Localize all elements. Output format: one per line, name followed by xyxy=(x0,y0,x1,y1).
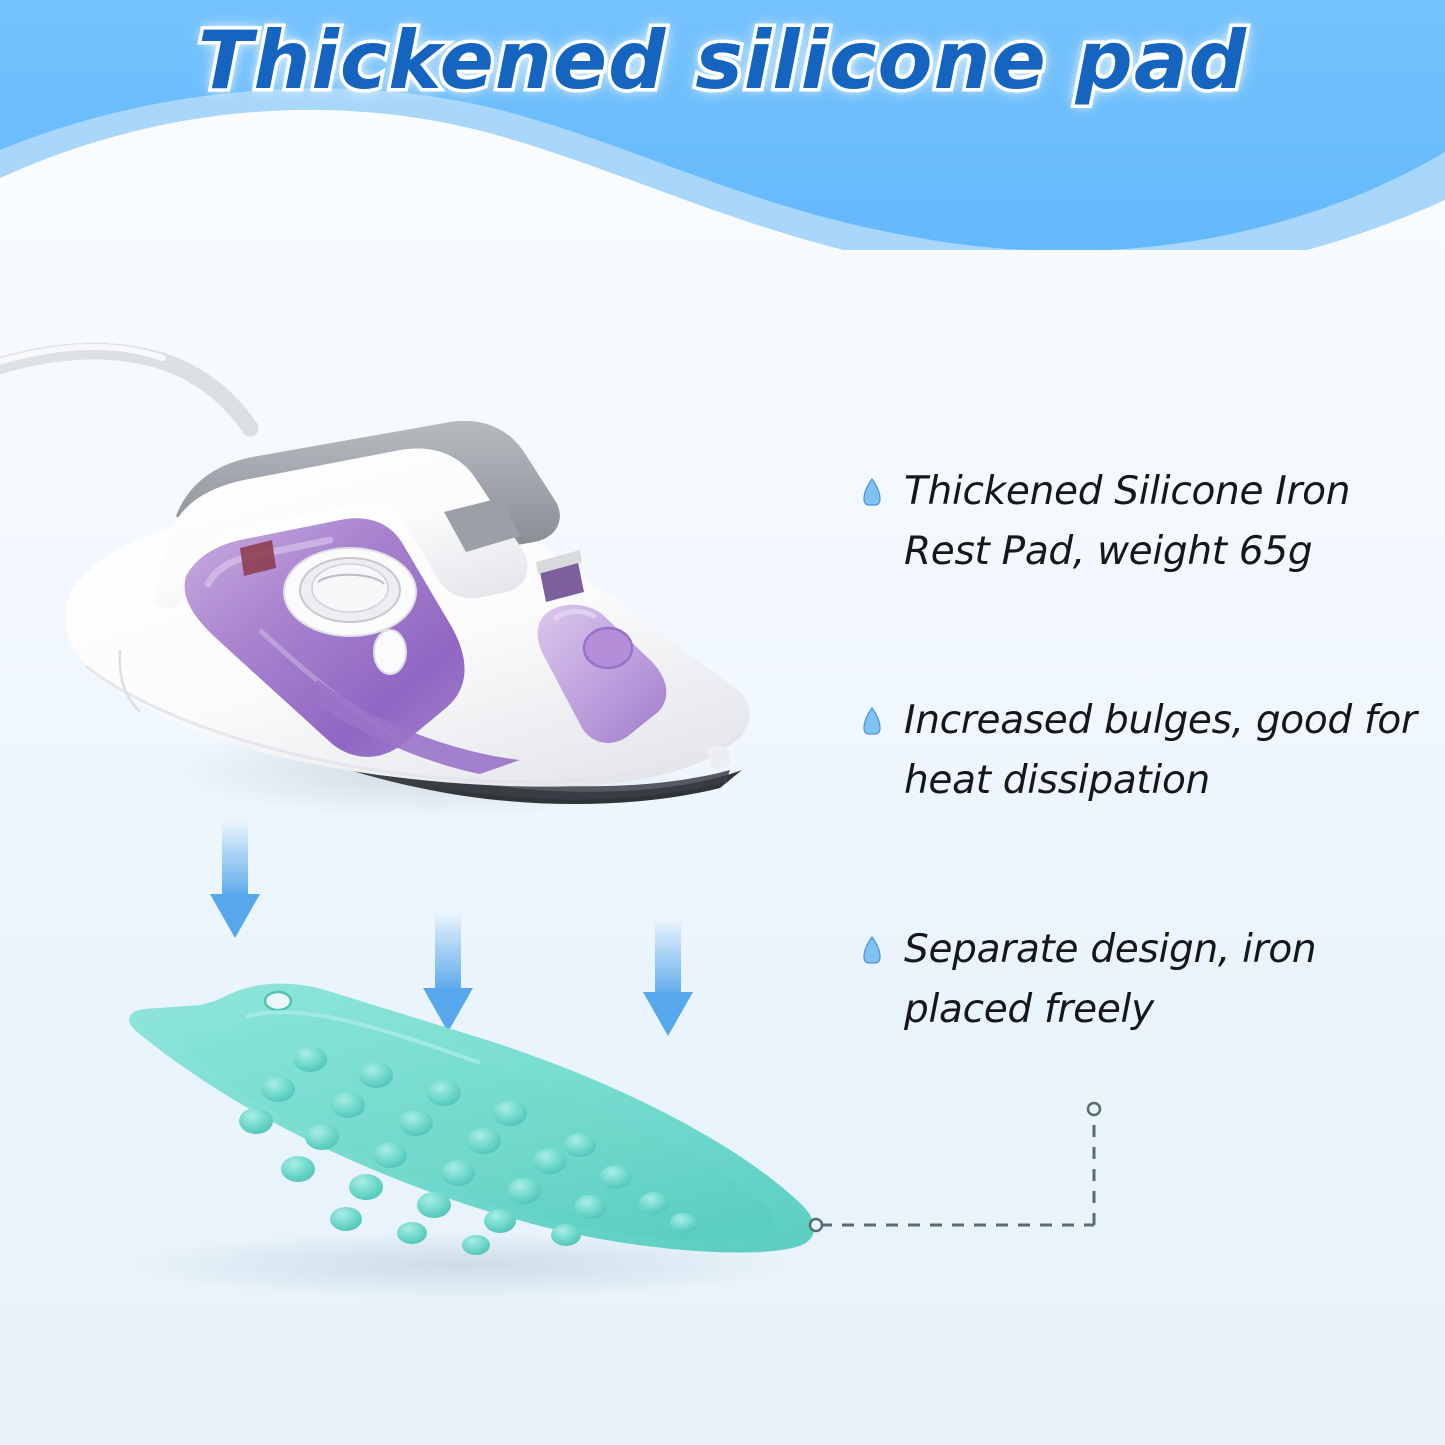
iron-power-cord xyxy=(0,347,250,428)
feature-list: Thickened Silicone Iron Rest Pad, weight… xyxy=(862,462,1422,1041)
steam-iron-image xyxy=(0,300,800,900)
feature-text-2: Increased bulges, good for heat dissipat… xyxy=(904,691,1422,812)
iron-front-window-cap xyxy=(584,628,632,668)
iron-spray-button xyxy=(374,630,406,674)
page-title: Thickened silicone pad xyxy=(0,14,1445,107)
callout-endpoint-left xyxy=(810,1219,822,1231)
down-arrow-1 xyxy=(210,820,260,938)
measurement-callout-lines xyxy=(790,1085,1150,1265)
header-banner: Thickened silicone pad xyxy=(0,0,1445,250)
iron-temperature-dial xyxy=(284,548,416,636)
iron-soleplate-bullet-icon xyxy=(862,707,882,735)
iron-nose-notch xyxy=(706,745,730,769)
feature-text-1: Thickened Silicone Iron Rest Pad, weight… xyxy=(904,462,1422,583)
iron-soleplate-bullet-icon xyxy=(862,478,882,506)
feature-text-3: Separate design, iron placed freely xyxy=(904,920,1422,1041)
feature-item-3: Separate design, iron placed freely xyxy=(862,920,1422,1041)
feature-item-2: Increased bulges, good for heat dissipat… xyxy=(862,691,1422,812)
iron-soleplate-bullet-icon xyxy=(862,936,882,964)
silicone-pad-image xyxy=(60,955,860,1305)
feature-item-1: Thickened Silicone Iron Rest Pad, weight… xyxy=(862,462,1422,583)
pad-hanging-hole xyxy=(265,992,291,1010)
product-infographic-page: Thickened silicone pad xyxy=(0,0,1445,1445)
callout-endpoint-top xyxy=(1088,1103,1100,1115)
